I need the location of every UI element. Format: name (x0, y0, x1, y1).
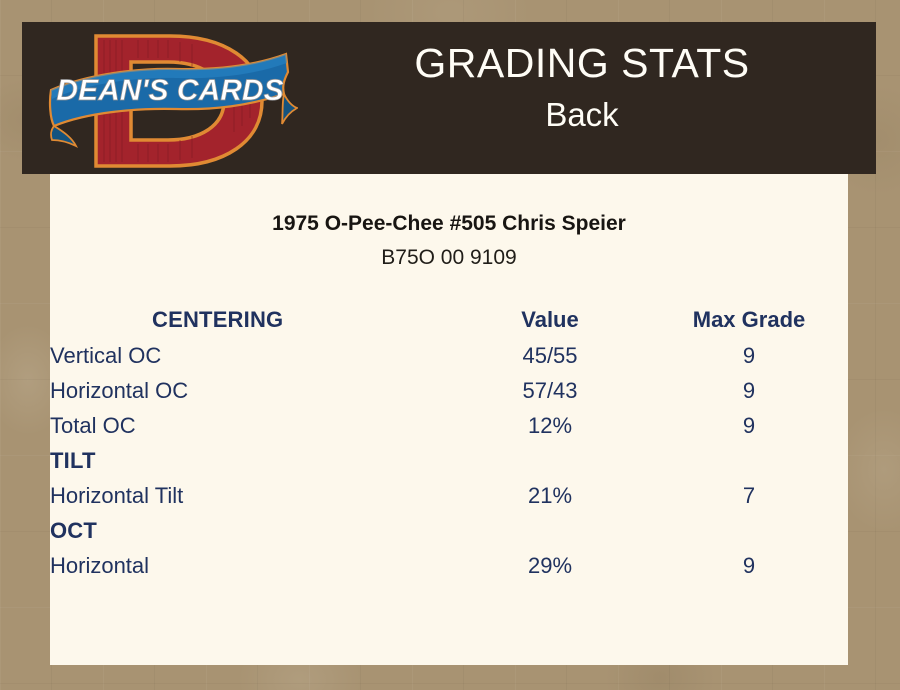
table-row: Horizontal OC 57/43 9 (50, 373, 848, 408)
section-spacer-value (450, 513, 650, 548)
section-spacer-grade (650, 443, 848, 478)
logo-ribbon-text: DEAN'S CARDS (56, 74, 283, 107)
stat-max-grade: 7 (650, 478, 848, 513)
stat-label: Horizontal (50, 548, 450, 583)
card-heading: 1975 O-Pee-Chee #505 Chris Speier (50, 211, 848, 237)
stat-value: 29% (450, 548, 650, 583)
table-header-row: CENTERING Value Max Grade (50, 301, 848, 338)
page-title: GRADING STATS (312, 38, 852, 88)
deans-cards-logo[interactable]: DEAN'S CARDS (48, 28, 298, 174)
column-header-value: Value (450, 301, 650, 338)
logo-ribbon: DEAN'S CARDS (50, 54, 297, 146)
stat-max-grade: 9 (650, 373, 848, 408)
stat-label: Horizontal OC (50, 373, 450, 408)
table-row: Horizontal 29% 9 (50, 548, 848, 583)
stat-value: 12% (450, 408, 650, 443)
card-serial-number: B75O 00 9109 (50, 245, 848, 271)
stat-value: 57/43 (450, 373, 650, 408)
section-title-tilt: TILT (50, 443, 450, 478)
stat-label: Horizontal Tilt (50, 478, 450, 513)
stat-max-grade: 9 (650, 408, 848, 443)
section-spacer-grade (650, 513, 848, 548)
section-spacer-value (450, 443, 650, 478)
section-header-row: OCT (50, 513, 848, 548)
header-band: DEAN'S CARDS GRADING STATS Back (22, 22, 876, 174)
column-header-section: CENTERING (50, 301, 450, 338)
stat-max-grade: 9 (650, 338, 848, 373)
section-title-oct: OCT (50, 513, 450, 548)
stat-value: 45/55 (450, 338, 650, 373)
table-row: Total OC 12% 9 (50, 408, 848, 443)
page-subtitle: Back (312, 92, 852, 138)
stat-value: 21% (450, 478, 650, 513)
table-row: Horizontal Tilt 21% 7 (50, 478, 848, 513)
stat-label: Total OC (50, 408, 450, 443)
content-panel: 1975 O-Pee-Chee #505 Chris Speier B75O 0… (50, 174, 848, 665)
grading-stats-table: CENTERING Value Max Grade Vertical OC 45… (50, 301, 848, 583)
stat-max-grade: 9 (650, 548, 848, 583)
column-header-max-grade: Max Grade (650, 301, 848, 338)
header-title-group: GRADING STATS Back (312, 38, 852, 138)
table-row: Vertical OC 45/55 9 (50, 338, 848, 373)
stat-label: Vertical OC (50, 338, 450, 373)
section-header-row: TILT (50, 443, 848, 478)
